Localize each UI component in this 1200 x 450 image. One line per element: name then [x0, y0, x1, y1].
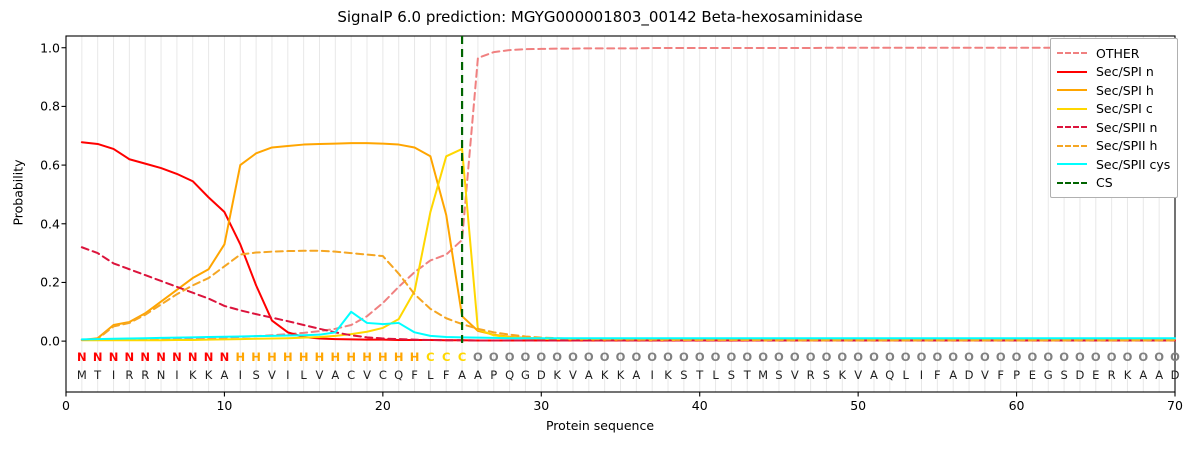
region-letter: O — [1170, 350, 1180, 364]
region-letter: O — [536, 350, 546, 364]
region-letter: O — [552, 350, 562, 364]
region-letter: O — [647, 350, 657, 364]
region-letter: H — [299, 350, 309, 364]
region-letter: N — [188, 350, 198, 364]
region-letter: C — [458, 350, 466, 364]
region-letter: H — [410, 350, 420, 364]
region-letter: H — [315, 350, 325, 364]
region-letter: O — [505, 350, 515, 364]
region-letter: N — [156, 350, 166, 364]
legend-swatch-icon — [1057, 140, 1087, 152]
legend: OTHERSec/SPI nSec/SPI hSec/SPI cSec/SPII… — [1050, 38, 1178, 198]
legend-label: Sec/SPI c — [1096, 101, 1153, 116]
legend-swatch-icon — [1057, 103, 1087, 115]
region-letter: N — [109, 350, 119, 364]
region-letter: H — [346, 350, 356, 364]
legend-item: Sec/SPII n — [1057, 118, 1170, 137]
legend-item: Sec/SPI c — [1057, 100, 1170, 119]
legend-swatch-icon — [1057, 66, 1087, 78]
region-letter: N — [172, 350, 182, 364]
region-letter: C — [426, 350, 434, 364]
region-letter: O — [568, 350, 578, 364]
region-letter: N — [93, 350, 103, 364]
legend-swatch-icon — [1057, 177, 1087, 189]
legend-swatch-icon — [1057, 47, 1087, 59]
region-letter: O — [996, 350, 1006, 364]
region-letter: O — [917, 350, 927, 364]
region-letter: H — [235, 350, 245, 364]
region-letter: O — [790, 350, 800, 364]
region-letter: H — [267, 350, 277, 364]
region-letter: O — [806, 350, 816, 364]
region-letter: O — [631, 350, 641, 364]
region-letter: O — [822, 350, 832, 364]
region-letter: O — [837, 350, 847, 364]
region-letter: O — [663, 350, 673, 364]
region-letter: H — [283, 350, 293, 364]
region-letter: O — [473, 350, 483, 364]
region-letter: O — [616, 350, 626, 364]
legend-swatch-icon — [1057, 158, 1087, 170]
region-letter: O — [885, 350, 895, 364]
signalp-prediction-figure: SignalP 6.0 prediction: MGYG000001803_00… — [0, 0, 1200, 450]
region-letter: C — [442, 350, 450, 364]
region-letter: O — [1012, 350, 1022, 364]
region-letter: N — [220, 350, 230, 364]
region-letter: O — [853, 350, 863, 364]
region-letter: O — [711, 350, 721, 364]
legend-label: Sec/SPII n — [1096, 120, 1157, 135]
region-letter: O — [1091, 350, 1101, 364]
region-letter: O — [1123, 350, 1133, 364]
region-letter: N — [77, 350, 87, 364]
region-letter: O — [600, 350, 610, 364]
region-letter: O — [1028, 350, 1038, 364]
legend-swatch-icon — [1057, 84, 1087, 96]
region-letter: O — [774, 350, 784, 364]
region-letter: H — [378, 350, 388, 364]
region-letter: O — [1075, 350, 1085, 364]
region-letter: O — [980, 350, 990, 364]
region-letter: N — [204, 350, 214, 364]
region-letter: O — [521, 350, 531, 364]
region-letter: H — [362, 350, 372, 364]
legend-swatch-icon — [1057, 121, 1087, 133]
legend-item: Sec/SPI n — [1057, 63, 1170, 82]
region-letter: O — [742, 350, 752, 364]
region-letter: O — [1107, 350, 1117, 364]
region-letter: O — [1043, 350, 1053, 364]
region-letter: O — [695, 350, 705, 364]
region-letter: O — [901, 350, 911, 364]
region-letter: O — [948, 350, 958, 364]
region-letter: O — [489, 350, 499, 364]
legend-label: Sec/SPI n — [1096, 64, 1154, 79]
region-letter: O — [932, 350, 942, 364]
region-letter: H — [331, 350, 341, 364]
region-letter: O — [1154, 350, 1164, 364]
legend-label: Sec/SPII h — [1096, 138, 1157, 153]
legend-label: Sec/SPII cys — [1096, 157, 1170, 172]
region-letter: O — [869, 350, 879, 364]
legend-item: OTHER — [1057, 44, 1170, 63]
region-letter: O — [758, 350, 768, 364]
region-letter: H — [394, 350, 404, 364]
region-letter: O — [584, 350, 594, 364]
region-letter: O — [1138, 350, 1148, 364]
legend-item: CS — [1057, 174, 1170, 193]
legend-item: Sec/SPI h — [1057, 81, 1170, 100]
region-letter: O — [679, 350, 689, 364]
legend-item: Sec/SPII cys — [1057, 155, 1170, 174]
region-letter: N — [140, 350, 150, 364]
region-letter: O — [1059, 350, 1069, 364]
legend-label: OTHER — [1096, 46, 1139, 61]
region-annotation-row: NNNNNNNNNNHHHHHHHHHHHHCCCOOOOOOOOOOOOOOO… — [0, 0, 1200, 450]
legend-label: Sec/SPI h — [1096, 83, 1154, 98]
region-letter: O — [964, 350, 974, 364]
region-letter: N — [125, 350, 135, 364]
legend-item: Sec/SPII h — [1057, 137, 1170, 156]
legend-label: CS — [1096, 175, 1113, 190]
region-letter: O — [727, 350, 737, 364]
region-letter: H — [251, 350, 261, 364]
